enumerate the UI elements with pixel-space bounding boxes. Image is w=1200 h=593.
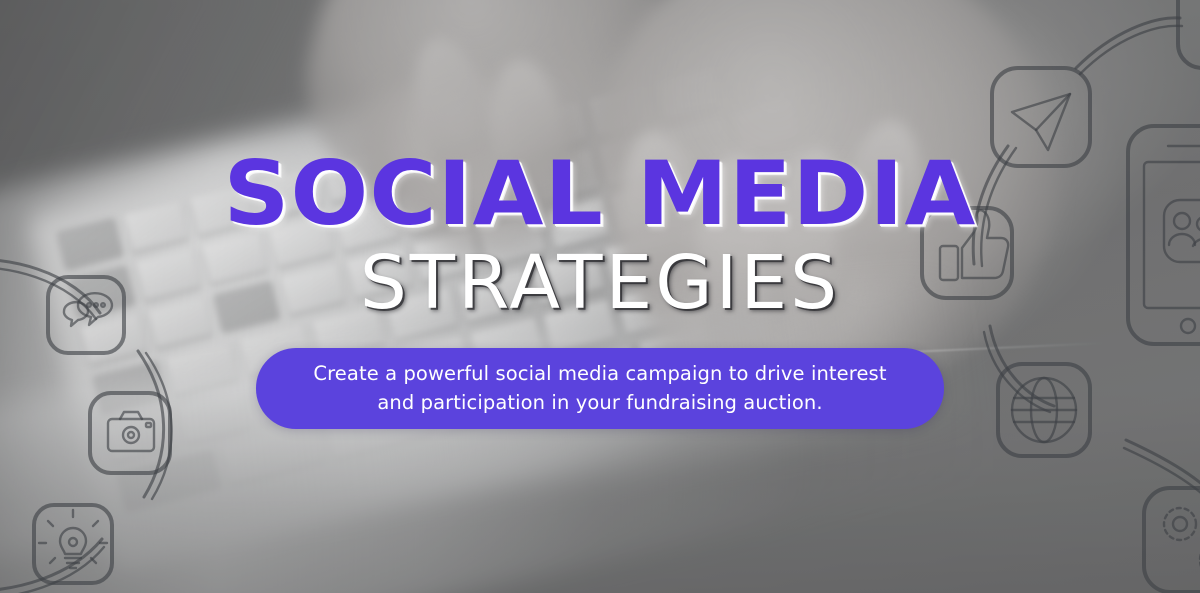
page-title-sub: Strategies bbox=[360, 246, 840, 320]
description-text: Create a powerful social media campaign … bbox=[302, 360, 898, 416]
banner-content: Social Media Strategies Create a powerfu… bbox=[0, 0, 1200, 593]
description-pill: Create a powerful social media campaign … bbox=[256, 348, 944, 428]
social-media-strategies-banner: Social Media Strategies Create a powerfu… bbox=[0, 0, 1200, 593]
page-title-main: Social Media bbox=[224, 152, 977, 236]
